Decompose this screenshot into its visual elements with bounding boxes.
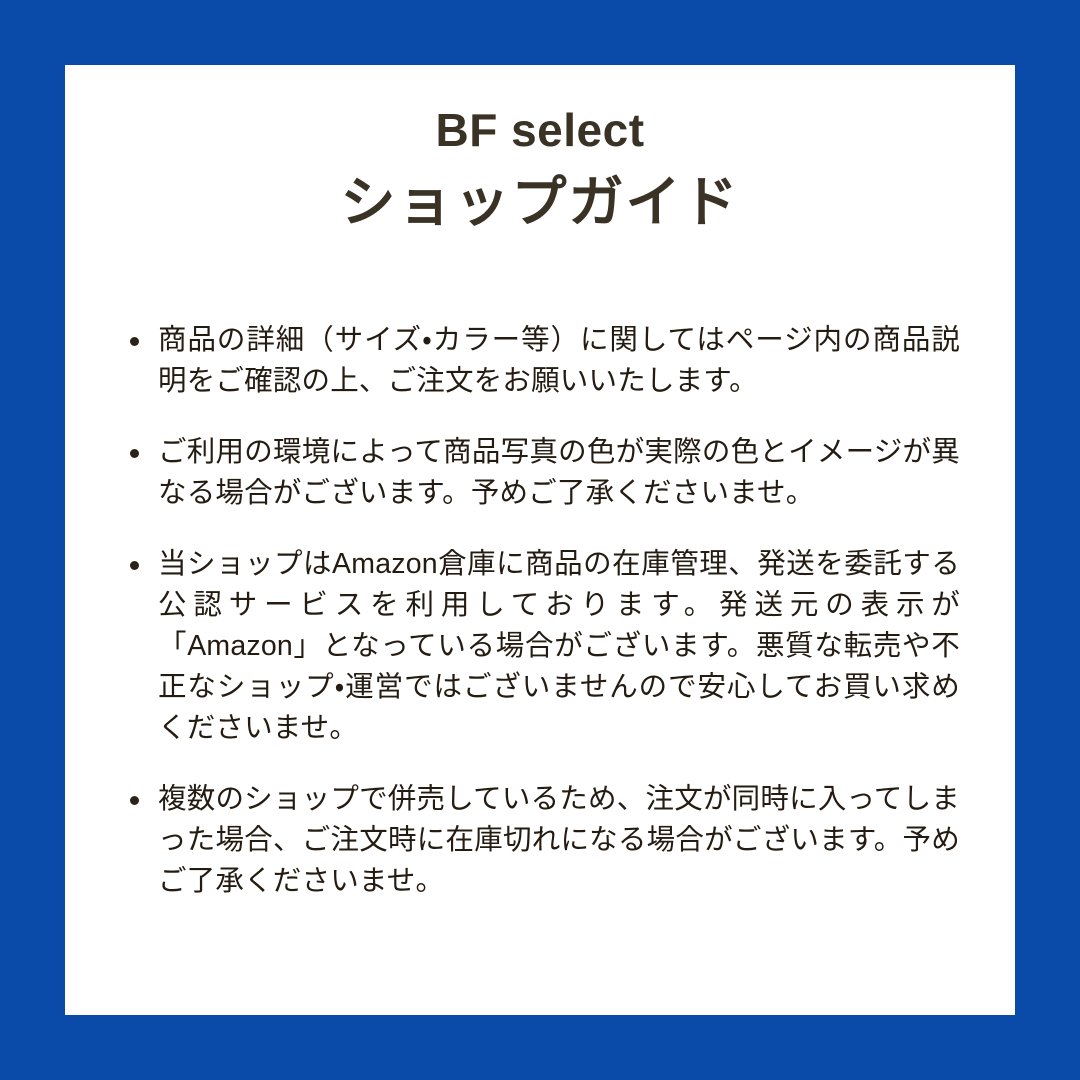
list-item: 商品の詳細（サイズ・カラー等）に関してはページ内の商品説明をご確認の上、ご注文を… <box>130 320 960 402</box>
list-item: ご利用の環境によって商品写真の色が実際の色とイメージが異なる場合がございます。予… <box>130 432 960 514</box>
bullet-dot-icon <box>130 449 139 458</box>
notice-text: 当ショップはAmazon倉庫に商品の在庫管理、発送を委託する公認サービスを利用し… <box>158 544 960 749</box>
bullet-dot-icon <box>130 337 139 346</box>
notice-text: ご利用の環境によって商品写真の色が実際の色とイメージが異なる場合がございます。予… <box>158 432 960 514</box>
title-brand-line: BF select <box>65 107 1015 153</box>
page-title: BF select ショップガイド <box>65 65 1015 230</box>
bullet-dot-icon <box>130 796 139 805</box>
list-item: 複数のショップで併売しているため、注文が同時に入ってしまった場合、ご注文時に在庫… <box>130 779 960 902</box>
notice-text: 複数のショップで併売しているため、注文が同時に入ってしまった場合、ご注文時に在庫… <box>158 779 960 902</box>
guide-card: BF select ショップガイド 商品の詳細（サイズ・カラー等）に関してはペー… <box>65 65 1015 1015</box>
title-subject-line: ショップガイド <box>65 175 1015 230</box>
notices-list: 商品の詳細（サイズ・カラー等）に関してはページ内の商品説明をご確認の上、ご注文を… <box>130 320 960 902</box>
list-item: 当ショップはAmazon倉庫に商品の在庫管理、発送を委託する公認サービスを利用し… <box>130 544 960 749</box>
notice-text: 商品の詳細（サイズ・カラー等）に関してはページ内の商品説明をご確認の上、ご注文を… <box>158 320 960 402</box>
bullet-dot-icon <box>130 561 139 570</box>
blue-border-frame: BF select ショップガイド 商品の詳細（サイズ・カラー等）に関してはペー… <box>0 0 1080 1080</box>
